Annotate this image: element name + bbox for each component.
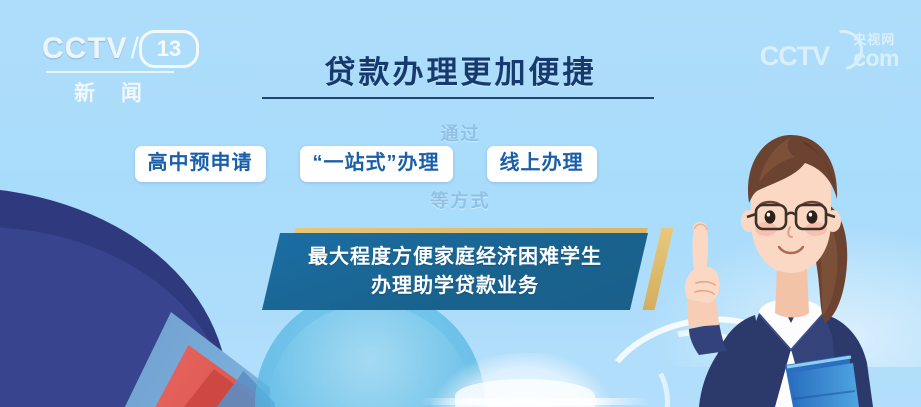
method-tag: 高中预申请	[135, 146, 266, 182]
decorative-dome-highlight	[268, 304, 473, 407]
key-message-banner: 最大程度方便家庭经济困难学生 办理助学贷款业务	[262, 228, 660, 310]
banner-body: 最大程度方便家庭经济困难学生 办理助学贷款业务	[262, 233, 648, 310]
decorative-ribbon-strip	[420, 398, 650, 405]
decorative-blue-sliver	[205, 371, 275, 407]
presenter-neck	[775, 267, 809, 318]
broadcast-graphic-frame: CCTV / 13 新 闻 CCTV 央视网 com 贷款办理更加便捷 通过 高…	[0, 0, 921, 407]
decorative-navy-wedge-soft	[0, 227, 230, 407]
decorative-red-wedge	[150, 345, 270, 407]
headline-container: 贷款办理更加便捷	[0, 56, 921, 90]
decorative-steel-wedge	[120, 312, 270, 407]
decorative-navy-wedge	[0, 187, 252, 407]
banner-line: 办理助学贷款业务	[371, 273, 539, 300]
decorative-ribbon-b	[455, 379, 595, 407]
presenter-illustration	[663, 117, 913, 407]
page-title: 贷款办理更加便捷	[325, 56, 597, 90]
decorative-red-wedge-dark	[176, 369, 271, 407]
headline-underline	[262, 97, 654, 99]
banner-line: 最大程度方便家庭经济困难学生	[308, 244, 602, 271]
decorative-ribbon-a	[428, 348, 611, 407]
method-tag: 线上办理	[487, 146, 597, 182]
method-tag: “一站式”办理	[300, 146, 453, 182]
